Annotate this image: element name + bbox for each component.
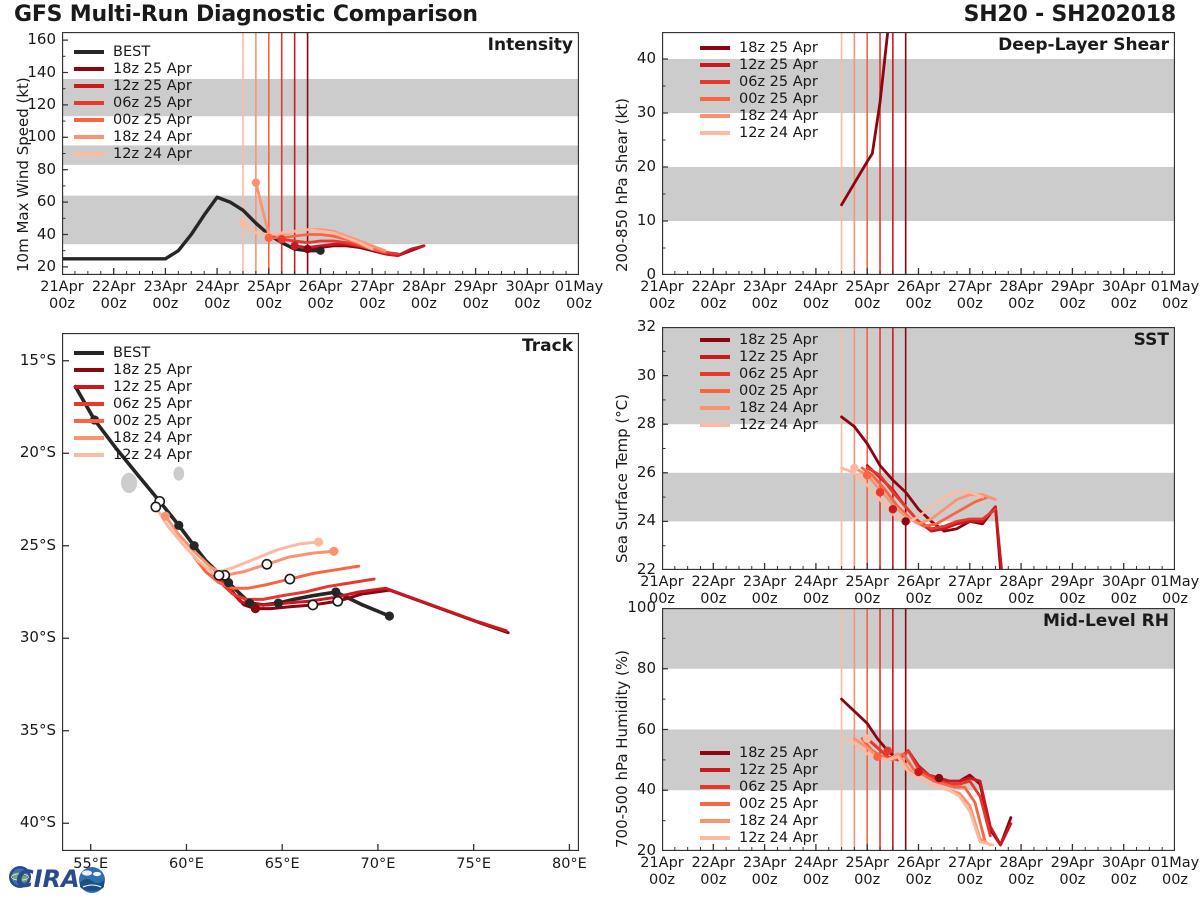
- legend-entry: 12z 25 Apr: [700, 762, 818, 778]
- legend-color-swatch: [74, 453, 104, 457]
- shaded-band: [662, 473, 1175, 522]
- track-marker-open: [151, 502, 160, 511]
- panel-title-shear: Deep-Layer Shear: [998, 35, 1169, 55]
- y-tick-label: 20: [612, 157, 656, 175]
- figure-canvas: GFS Multi-Run Diagnostic Comparison SH20…: [0, 0, 1200, 900]
- legend-entry: 06z 25 Apr: [700, 74, 818, 90]
- track-marker-filled: [161, 512, 170, 521]
- series-marker: [901, 517, 909, 525]
- series-marker: [889, 505, 897, 513]
- legend-color-swatch: [700, 63, 730, 67]
- y-tick-label: 80: [612, 659, 656, 677]
- y-tick-label: 15°S: [0, 351, 56, 369]
- legend-entry-label: 00z 25 Apr: [113, 413, 192, 429]
- legend-color-swatch: [74, 118, 104, 122]
- legend-color-swatch: [74, 368, 104, 372]
- y-tick-label: 30: [612, 366, 656, 384]
- legend-rh: 18z 25 Apr12z 25 Apr06z 25 Apr00z 25 Apr…: [700, 745, 818, 847]
- legend-entry: 18z 25 Apr: [700, 332, 818, 348]
- track-marker-open: [333, 597, 342, 606]
- legend-entry: 18z 24 Apr: [74, 430, 192, 446]
- legend-entry-label: 00z 25 Apr: [739, 91, 818, 107]
- y-tick-label: 100: [12, 127, 56, 145]
- y-tick-label: 40: [612, 780, 656, 798]
- y-tick-label: 100: [612, 598, 656, 616]
- y-tick-label: 24: [612, 511, 656, 529]
- y-tick-label: 28: [612, 414, 656, 432]
- legend-entry: 18z 24 Apr: [700, 813, 818, 829]
- x-tick-label: 80°E: [539, 856, 599, 873]
- legend-entry-label: 12z 25 Apr: [739, 349, 818, 365]
- track-marker-filled: [174, 521, 183, 530]
- legend-entry-label: 12z 24 Apr: [739, 417, 818, 433]
- legend-color-swatch: [700, 406, 730, 410]
- track-marker-open: [214, 571, 223, 580]
- x-tick-label: 01May00z: [1145, 279, 1200, 313]
- track-marker-filled: [385, 611, 394, 620]
- legend-entry: 12z 24 Apr: [700, 125, 818, 141]
- legend-entry: 06z 25 Apr: [700, 366, 818, 382]
- legend-entry-label: 18z 25 Apr: [739, 745, 818, 761]
- legend-entry-label: 06z 25 Apr: [113, 396, 192, 412]
- legend-color-swatch: [74, 351, 104, 355]
- series-marker: [863, 471, 871, 479]
- legend-color-swatch: [700, 836, 730, 840]
- y-tick-label: 140: [12, 63, 56, 81]
- landmass: [173, 467, 184, 481]
- panel-title-track: Track: [522, 336, 573, 356]
- y-tick-label: 30°S: [0, 628, 56, 646]
- series-marker: [850, 464, 858, 472]
- legend-entry: BEST: [74, 345, 192, 361]
- legend-color-swatch: [74, 101, 104, 105]
- legend-entry-label: 18z 24 Apr: [113, 430, 192, 446]
- x-tick-label: 75°E: [444, 856, 504, 873]
- series-marker: [914, 768, 922, 776]
- legend-entry: 12z 24 Apr: [74, 447, 192, 463]
- y-tick-label: 40: [612, 49, 656, 67]
- legend-entry: 18z 25 Apr: [74, 362, 192, 378]
- legend-entry: 12z 24 Apr: [74, 146, 192, 162]
- legend-color-swatch: [700, 389, 730, 393]
- legend-entry: 12z 25 Apr: [74, 379, 192, 395]
- y-tick-label: 120: [12, 95, 56, 113]
- legend-entry: 12z 24 Apr: [700, 417, 818, 433]
- legend-color-swatch: [74, 84, 104, 88]
- series-marker: [876, 488, 884, 496]
- y-tick-label: 30: [612, 103, 656, 121]
- x-tick-label: 70°E: [348, 856, 408, 873]
- legend-entry-label: 12z 24 Apr: [113, 447, 192, 463]
- legend-track: BEST18z 25 Apr12z 25 Apr06z 25 Apr00z 25…: [74, 345, 192, 464]
- legend-entry-label: 18z 24 Apr: [739, 400, 818, 416]
- y-tick-label: 20: [12, 257, 56, 275]
- legend-color-swatch: [700, 338, 730, 342]
- y-tick-label: 10: [612, 211, 656, 229]
- legend-color-swatch: [700, 819, 730, 823]
- series-marker: [239, 219, 247, 227]
- legend-entry: 00z 25 Apr: [74, 112, 192, 128]
- legend-entry: 18z 25 Apr: [74, 61, 192, 77]
- legend-entry: 18z 24 Apr: [700, 108, 818, 124]
- page-title: GFS Multi-Run Diagnostic Comparison: [14, 2, 478, 27]
- legend-color-swatch: [700, 372, 730, 376]
- y-tick-label: 160: [12, 30, 56, 48]
- legend-entry-label: 12z 24 Apr: [113, 146, 192, 162]
- track-marker-open: [262, 560, 271, 569]
- legend-sst: 18z 25 Apr12z 25 Apr06z 25 Apr00z 25 Apr…: [700, 332, 818, 434]
- legend-color-swatch: [700, 114, 730, 118]
- legend-entry-label: 18z 24 Apr: [113, 129, 192, 145]
- track-marker-open: [308, 600, 317, 609]
- legend-entry-label: 18z 24 Apr: [739, 108, 818, 124]
- legend-entry: 06z 25 Apr: [700, 779, 818, 795]
- legend-color-swatch: [74, 135, 104, 139]
- x-tick-label: 65°E: [252, 856, 312, 873]
- track-marker-open: [285, 574, 294, 583]
- legend-entry-label: 18z 25 Apr: [739, 332, 818, 348]
- x-tick-label: 01May00z: [1145, 574, 1200, 608]
- track-marker-filled: [331, 587, 340, 596]
- y-tick-label: 32: [612, 317, 656, 335]
- legend-entry-label: 12z 24 Apr: [739, 830, 818, 846]
- rh-ylabel: 700-500 hPa Humidity (%): [613, 650, 631, 848]
- legend-color-swatch: [74, 152, 104, 156]
- shaded-band: [662, 167, 1175, 221]
- shaded-band: [62, 196, 579, 245]
- track-marker-filled: [251, 604, 260, 613]
- legend-entry: 06z 25 Apr: [74, 95, 192, 111]
- shear-ylabel: 200-850 hPa Shear (kt): [613, 98, 631, 272]
- legend-color-swatch: [700, 46, 730, 50]
- legend-entry-label: 12z 25 Apr: [739, 57, 818, 73]
- legend-color-swatch: [74, 67, 104, 71]
- legend-entry-label: 18z 25 Apr: [113, 61, 192, 77]
- legend-entry-label: 18z 24 Apr: [739, 813, 818, 829]
- series-marker: [873, 753, 881, 761]
- legend-entry-label: 06z 25 Apr: [739, 779, 818, 795]
- legend-entry: 06z 25 Apr: [74, 396, 192, 412]
- track-marker-filled: [274, 599, 283, 608]
- legend-color-swatch: [700, 751, 730, 755]
- y-tick-label: 80: [12, 160, 56, 178]
- series-marker: [278, 235, 286, 243]
- panel-title-sst: SST: [1134, 330, 1169, 350]
- series-marker: [290, 242, 298, 250]
- legend-entry-label: 12z 24 Apr: [739, 125, 818, 141]
- legend-entry-label: 06z 25 Apr: [739, 366, 818, 382]
- legend-color-swatch: [700, 80, 730, 84]
- series-marker: [303, 245, 311, 253]
- legend-color-swatch: [700, 785, 730, 789]
- legend-entry: 18z 24 Apr: [74, 129, 192, 145]
- cira-emblem-icon: [79, 867, 105, 893]
- x-tick-label: 60°E: [156, 856, 216, 873]
- legend-entry-label: 06z 25 Apr: [739, 74, 818, 90]
- y-tick-label: 35°S: [0, 721, 56, 739]
- legend-entry-label: 00z 25 Apr: [113, 112, 192, 128]
- legend-color-swatch: [700, 423, 730, 427]
- y-tick-label: 26: [612, 463, 656, 481]
- legend-entry: 00z 25 Apr: [700, 91, 818, 107]
- legend-entry-label: 06z 25 Apr: [113, 95, 192, 111]
- legend-entry-label: BEST: [113, 345, 150, 361]
- svg-text:CIRA: CIRA: [16, 865, 80, 893]
- legend-intensity: BEST18z 25 Apr12z 25 Apr06z 25 Apr00z 25…: [74, 44, 192, 163]
- legend-entry: 18z 24 Apr: [700, 400, 818, 416]
- series-marker: [935, 774, 943, 782]
- legend-entry: 12z 25 Apr: [700, 57, 818, 73]
- legend-color-swatch: [700, 97, 730, 101]
- legend-entry: 00z 25 Apr: [700, 796, 818, 812]
- track-marker-filled: [190, 541, 199, 550]
- y-tick-label: 40: [12, 225, 56, 243]
- x-tick-label: 01May00z: [1145, 855, 1200, 889]
- legend-color-swatch: [700, 355, 730, 359]
- legend-entry-label: 12z 25 Apr: [113, 379, 192, 395]
- legend-entry-label: BEST: [113, 44, 150, 60]
- legend-color-swatch: [700, 131, 730, 135]
- y-tick-label: 60: [12, 192, 56, 210]
- legend-color-swatch: [700, 802, 730, 806]
- legend-color-swatch: [74, 419, 104, 423]
- legend-entry-label: 00z 25 Apr: [739, 796, 818, 812]
- track-marker-filled: [314, 537, 323, 546]
- legend-color-swatch: [700, 768, 730, 772]
- legend-entry: 12z 25 Apr: [700, 349, 818, 365]
- legend-color-swatch: [74, 402, 104, 406]
- y-tick-label: 25°S: [0, 536, 56, 554]
- legend-entry-label: 12z 25 Apr: [739, 762, 818, 778]
- legend-shear: 18z 25 Apr12z 25 Apr06z 25 Apr00z 25 Apr…: [700, 40, 818, 142]
- legend-entry: 12z 25 Apr: [74, 78, 192, 94]
- legend-entry: 00z 25 Apr: [74, 413, 192, 429]
- legend-entry: BEST: [74, 44, 192, 60]
- x-tick-label: 01May00z: [549, 279, 609, 313]
- storm-id-title: SH20 - SH202018: [964, 2, 1176, 27]
- legend-entry-label: 18z 25 Apr: [113, 362, 192, 378]
- cira-logo: CIRA: [4, 856, 112, 898]
- legend-color-swatch: [74, 385, 104, 389]
- series-marker: [863, 734, 871, 742]
- legend-entry-label: 12z 25 Apr: [113, 78, 192, 94]
- panel-title-rh: Mid-Level RH: [1043, 611, 1169, 631]
- series-marker: [265, 234, 273, 242]
- series-marker: [316, 247, 324, 255]
- y-tick-label: 20°S: [0, 443, 56, 461]
- track-line: [156, 507, 319, 574]
- y-tick-label: 40°S: [0, 813, 56, 831]
- legend-color-swatch: [74, 50, 104, 54]
- legend-entry-label: 18z 25 Apr: [739, 40, 818, 56]
- legend-entry: 18z 25 Apr: [700, 745, 818, 761]
- landmass: [121, 473, 137, 493]
- track-marker-filled: [329, 547, 338, 556]
- y-tick-label: 60: [612, 720, 656, 738]
- legend-entry-label: 00z 25 Apr: [739, 383, 818, 399]
- panel-title-intensity: Intensity: [488, 35, 573, 55]
- series-marker: [252, 178, 260, 186]
- legend-color-swatch: [74, 436, 104, 440]
- legend-entry: 18z 25 Apr: [700, 40, 818, 56]
- series-marker: [884, 747, 892, 755]
- legend-entry: 12z 24 Apr: [700, 830, 818, 846]
- legend-entry: 00z 25 Apr: [700, 383, 818, 399]
